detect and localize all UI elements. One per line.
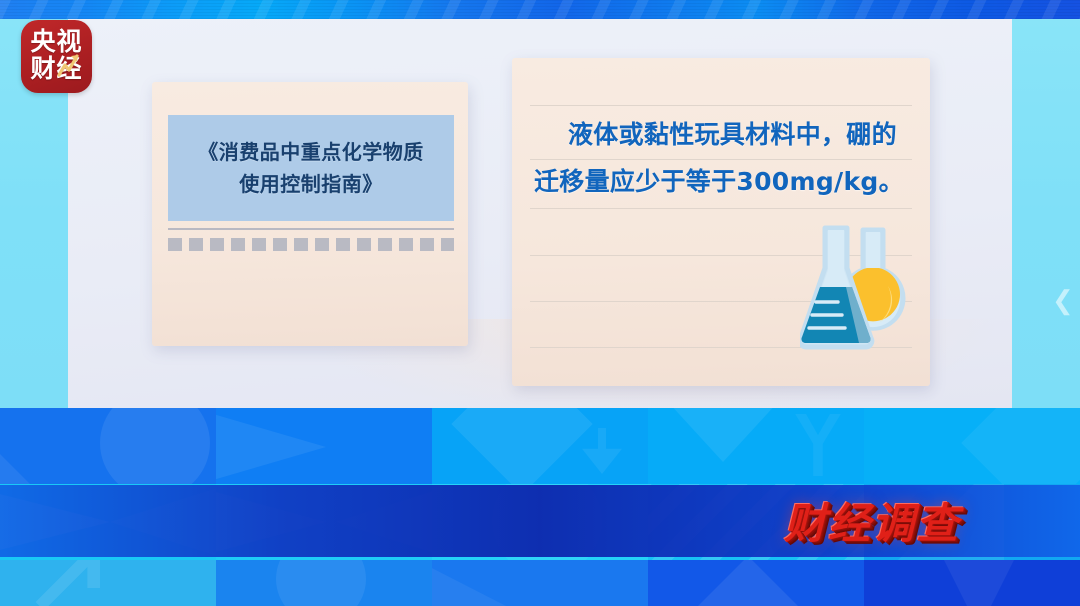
mosaic-tile [864, 560, 1080, 606]
card-dash-row [168, 238, 454, 251]
mosaic-tile [648, 408, 864, 484]
mosaic-tile [216, 408, 432, 484]
document-title-card: 《消费品中重点化学物质 使用控制指南》 [152, 82, 468, 346]
card-rule-line [168, 228, 454, 230]
regulation-text-line-2: 迁移量应少于等于300mg/kg。 [534, 158, 912, 205]
document-title-line-1: 《消费品中重点化学物质 [198, 136, 424, 168]
program-title: 财经调查 [742, 488, 1002, 552]
broadcast-screen: ❮ 央视 财经 《消费品中重点化学物质 使用控制指南》 液体或黏性玩具材料中，硼… [0, 0, 1080, 606]
logo-line-1: 央视 [21, 29, 92, 55]
top-gradient-strip [0, 0, 1080, 19]
document-title-text: 《消费品中重点化学物质 使用控制指南》 [168, 115, 454, 221]
right-cyan-band [1012, 19, 1080, 408]
mosaic-tile [648, 560, 864, 606]
cctv-finance-logo: 央视 财经 [21, 20, 92, 93]
regulation-text-line-1: 液体或黏性玩具材料中，硼的 [534, 111, 912, 158]
mosaic-tile [0, 408, 216, 484]
mosaic-tile [0, 560, 216, 606]
logo-line-2: 财经 [21, 56, 92, 82]
mosaic-tile [864, 408, 1080, 484]
regulation-text: 液体或黏性玩具材料中，硼的 迁移量应少于等于300mg/kg。 [534, 111, 912, 205]
mosaic-tile [432, 560, 648, 606]
mosaic-tile [432, 408, 648, 484]
chevron-left-icon: ❮ [1052, 288, 1074, 314]
document-title-line-2: 使用控制指南》 [239, 168, 383, 200]
title-highlight-band: 《消费品中重点化学物质 使用控制指南》 [168, 115, 454, 221]
mosaic-tile [216, 560, 432, 606]
laboratory-flasks-illustration [800, 224, 920, 356]
